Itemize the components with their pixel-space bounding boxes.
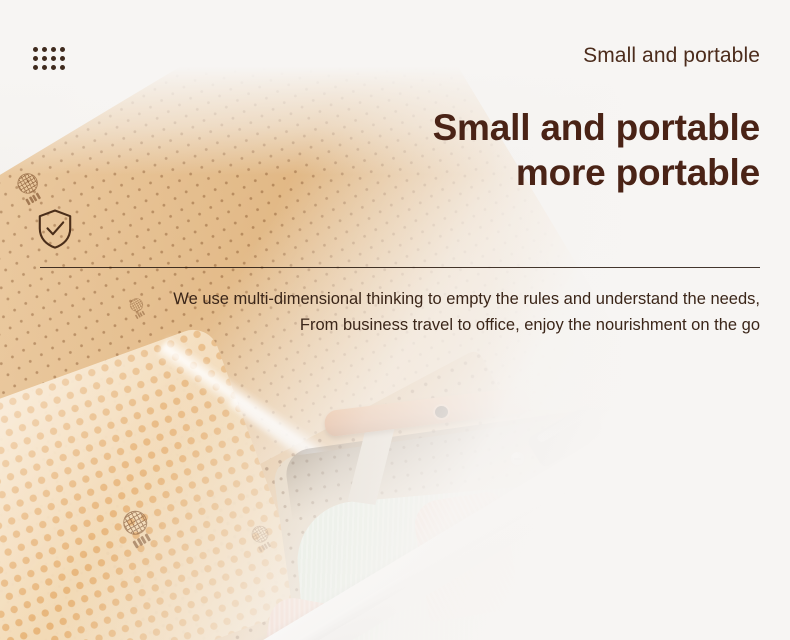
body-line-2: From business travel to office, enjoy th… — [173, 313, 760, 339]
page-title: Small and portable more portable — [433, 105, 760, 195]
eyebrow-text: Small and portable — [583, 44, 760, 68]
body-line-1: We use multi-dimensional thinking to emp… — [173, 287, 760, 313]
shield-check-icon — [36, 208, 74, 250]
promo-banner: Small and portable Small and portable mo… — [0, 0, 790, 640]
divider — [40, 267, 760, 268]
headline-line-2: more portable — [433, 150, 760, 195]
body-copy: We use multi-dimensional thinking to emp… — [173, 287, 760, 338]
content-overlay: Small and portable Small and portable mo… — [0, 0, 790, 640]
dot-grid-icon — [33, 47, 65, 70]
headline-line-1: Small and portable — [433, 105, 760, 150]
